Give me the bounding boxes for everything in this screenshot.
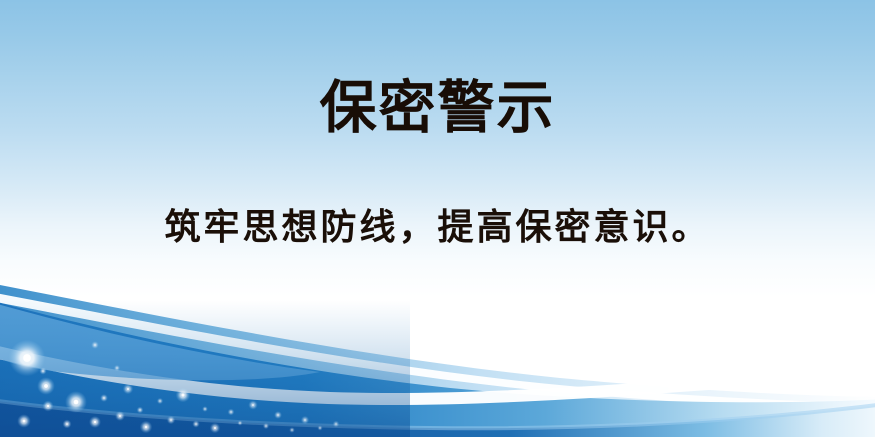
text-layer: 保密警示 筑牢思想防线，提高保密意识。 <box>0 0 875 437</box>
secrecy-warning-banner: 保密警示 筑牢思想防线，提高保密意识。 <box>0 0 875 437</box>
page-subtitle: 筑牢思想防线，提高保密意识。 <box>0 208 875 248</box>
page-title: 保密警示 <box>0 78 875 140</box>
